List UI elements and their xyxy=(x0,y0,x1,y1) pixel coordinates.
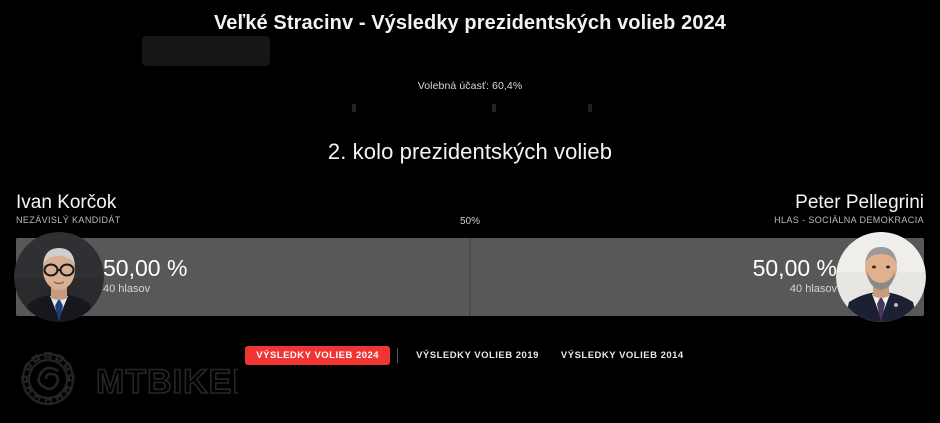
tick-mark-3 xyxy=(588,104,592,112)
tick-mark-2 xyxy=(492,104,496,112)
candidate-right-name: Peter Pellegrini xyxy=(774,192,924,214)
tick-mark-row xyxy=(0,104,940,116)
round-title: 2. kolo prezidentských volieb xyxy=(0,139,940,165)
watermark-text: MTBIKER xyxy=(96,363,238,401)
candidate-right-votes: 40 hlasov xyxy=(753,282,837,297)
midpoint-percent-label: 50% xyxy=(0,216,940,227)
candidate-left-name: Ivan Korčok xyxy=(16,192,121,214)
election-results-page: Veľké Stracinv - Výsledky prezidentských… xyxy=(0,0,940,423)
mtbiker-watermark: MTBIKER xyxy=(8,347,238,411)
tab-results-2024[interactable]: VÝSLEDKY VOLIEB 2024 xyxy=(245,346,390,365)
tab-results-2019[interactable]: VÝSLEDKY VOLIEB 2019 xyxy=(405,346,550,365)
candidate-right-result: 50,00 % 40 hlasov xyxy=(753,255,837,297)
candidate-left-result: 50,00 % 40 hlasov xyxy=(103,255,187,297)
voter-turnout-label: Volebná účasť: 60,4% xyxy=(0,80,940,92)
candidate-left-avatar xyxy=(14,232,104,322)
candidate-right-percent: 50,00 % xyxy=(753,255,837,282)
tab-results-2014[interactable]: VÝSLEDKY VOLIEB 2014 xyxy=(550,346,695,365)
candidate-left-votes: 40 hlasov xyxy=(103,282,187,297)
page-title: Veľké Stracinv - Výsledky prezidentských… xyxy=(0,12,940,35)
gear-icon xyxy=(22,353,73,404)
results-bar-values: 50,00 % 40 hlasov 50,00 % 40 hlasov xyxy=(16,238,924,316)
image-placeholder-block xyxy=(142,36,270,66)
results-bar: 50,00 % 40 hlasov 50,00 % 40 hlasov xyxy=(16,238,924,316)
tab-separator-1 xyxy=(397,348,398,363)
tick-mark-1 xyxy=(352,104,356,112)
candidate-right-avatar xyxy=(836,232,926,322)
candidate-left-percent: 50,00 % xyxy=(103,255,187,282)
